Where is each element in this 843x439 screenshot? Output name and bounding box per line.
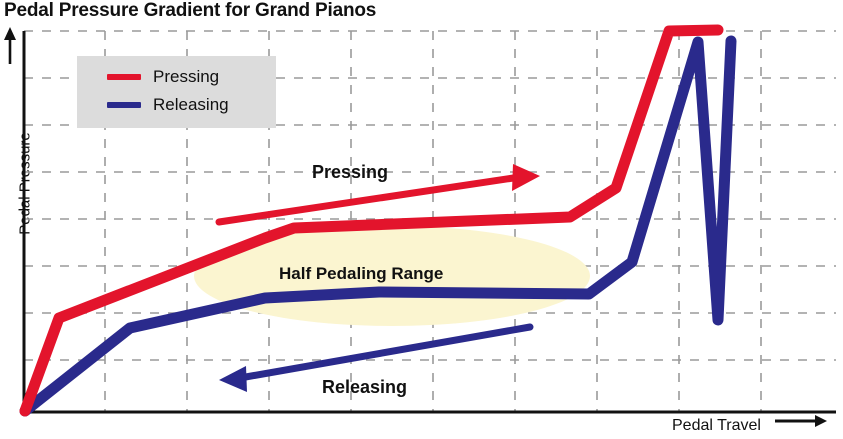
legend-item-releasing: Releasing [107, 96, 229, 113]
legend-swatch-pressing [107, 74, 141, 80]
chart-container: Pedal Pressure Gradient for Grand Pianos… [0, 0, 843, 439]
legend-swatch-releasing [107, 102, 141, 108]
annotation-releasing: Releasing [322, 377, 407, 398]
annotation-pressing: Pressing [312, 162, 388, 183]
annotation-half-pedaling-range: Half Pedaling Range [279, 264, 443, 284]
legend-label-pressing: Pressing [153, 68, 219, 85]
y-axis-arrow-icon [4, 27, 16, 64]
legend: Pressing Releasing [77, 56, 276, 128]
legend-label-releasing: Releasing [153, 96, 229, 113]
legend-item-pressing: Pressing [107, 68, 219, 85]
